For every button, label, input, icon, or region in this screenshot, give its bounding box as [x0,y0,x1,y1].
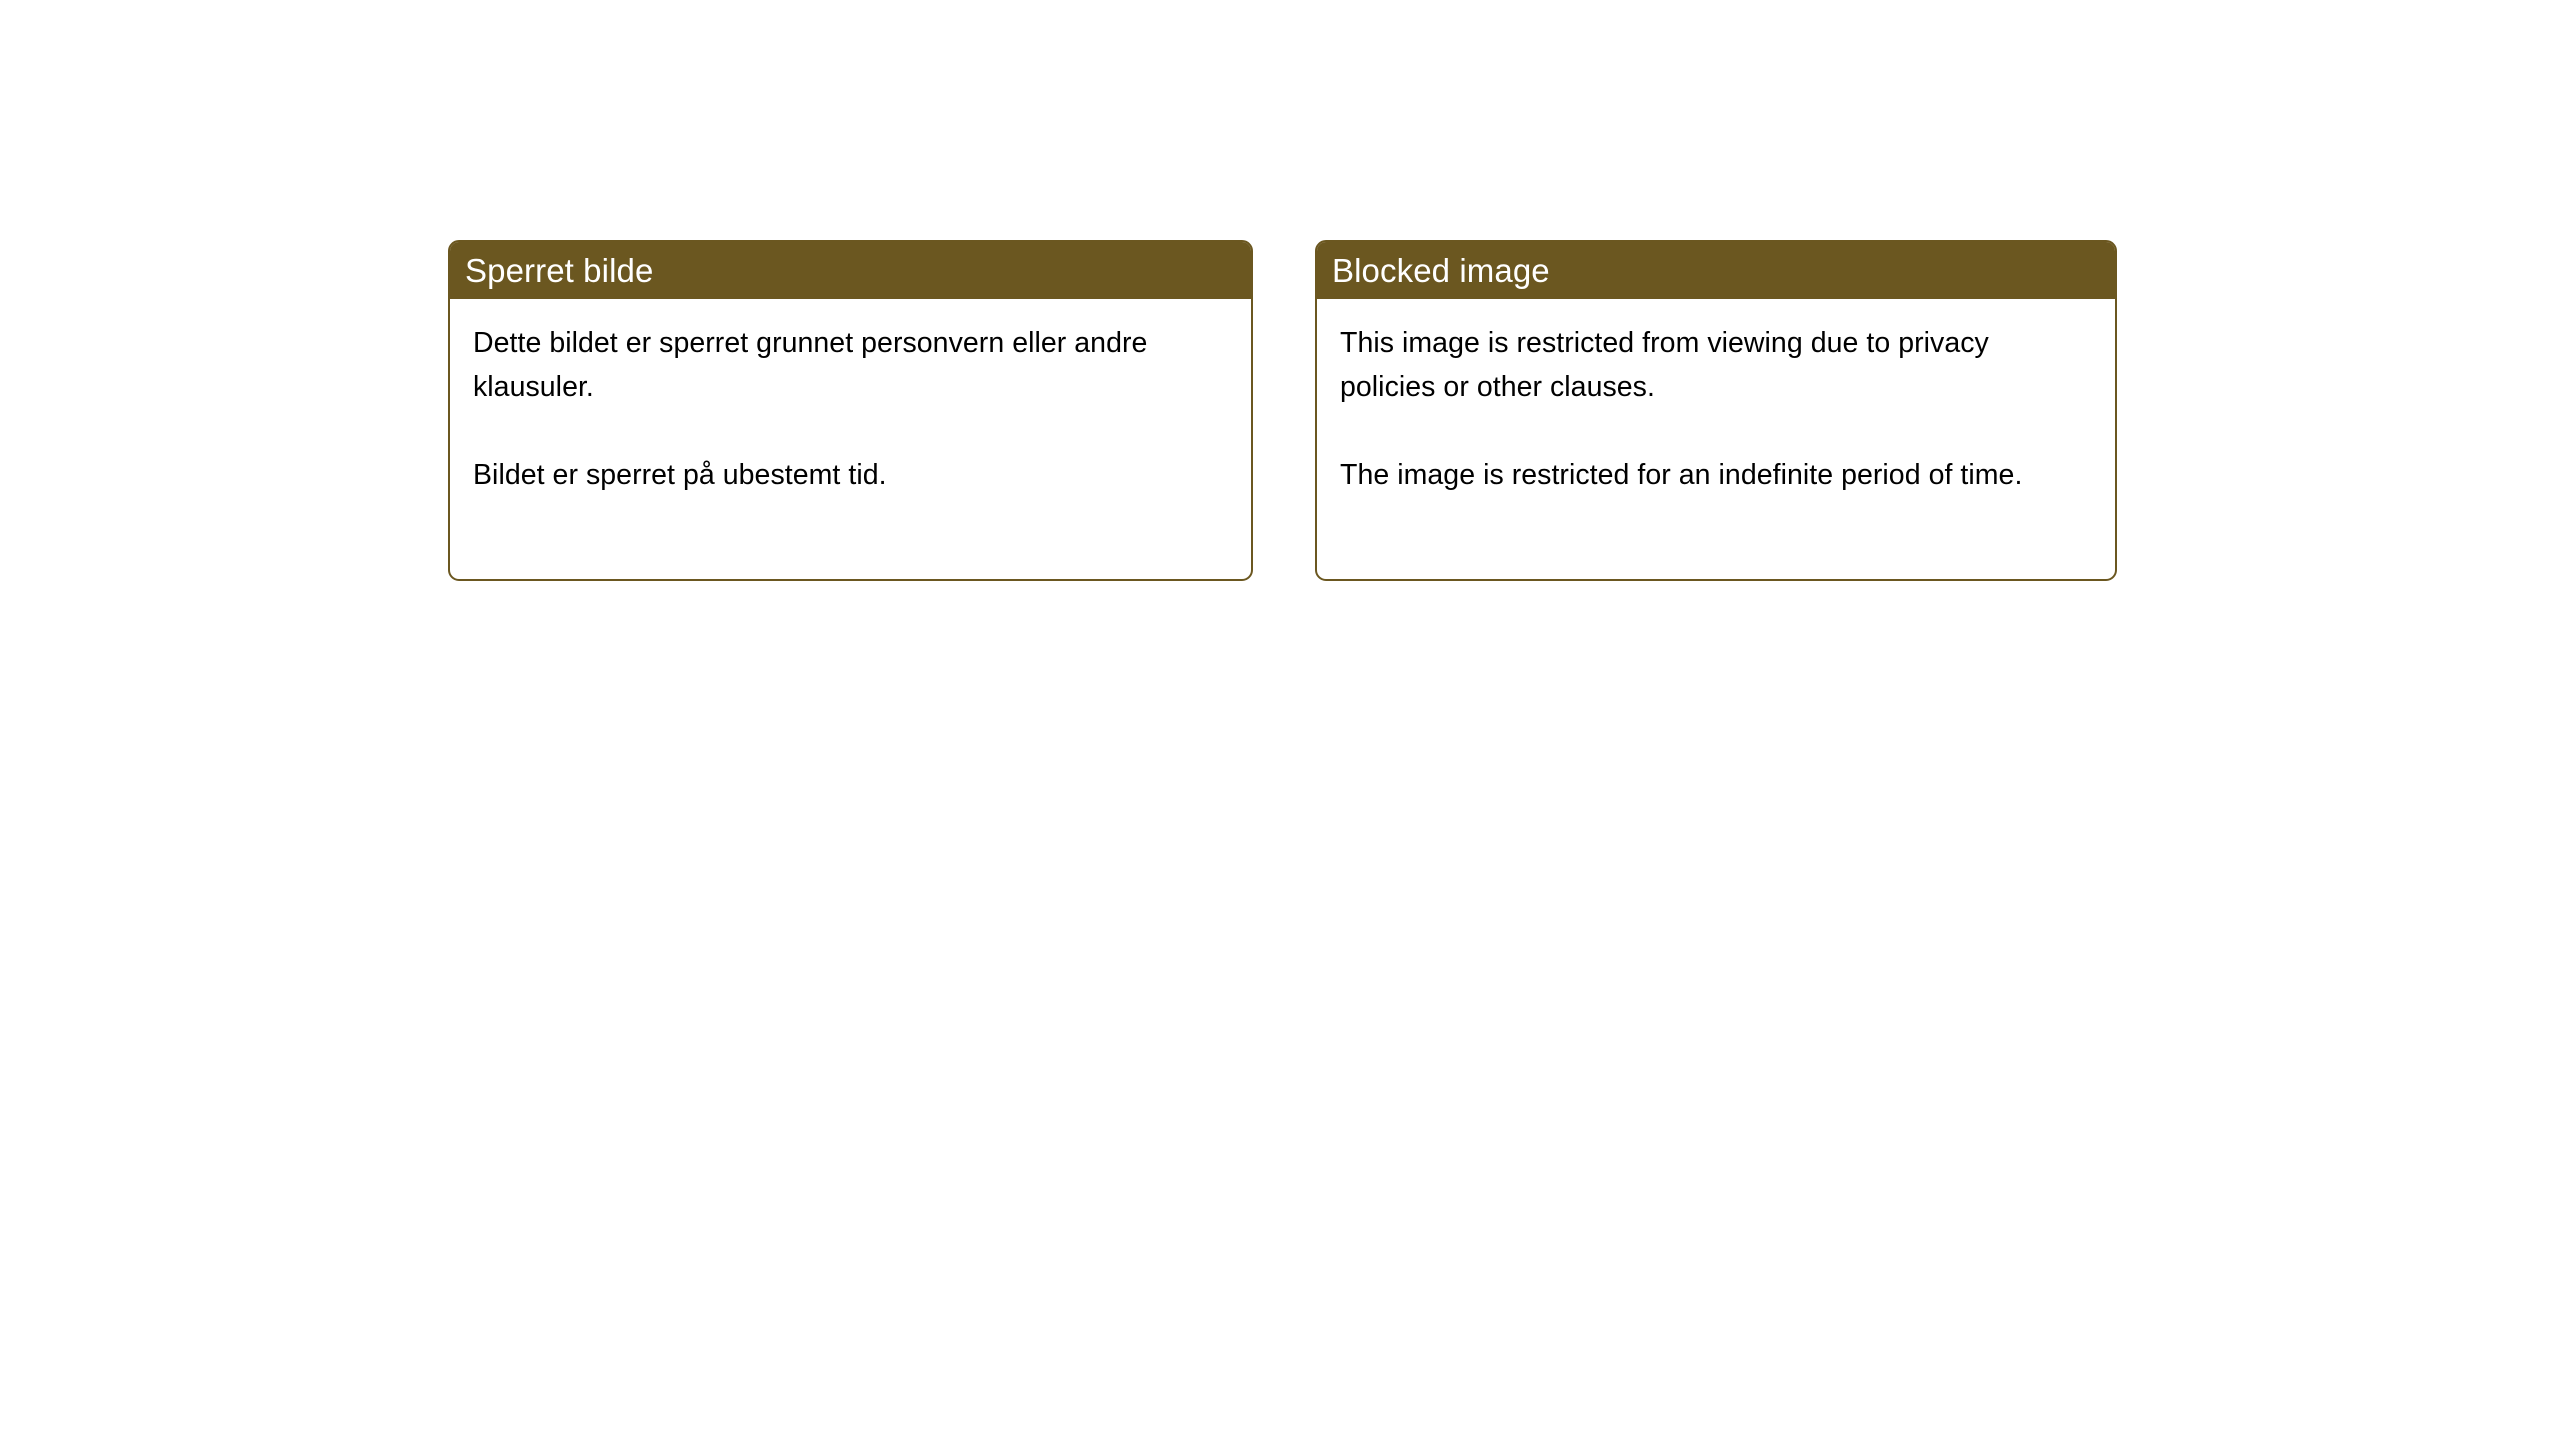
card-paragraph-secondary-english: The image is restricted for an indefinit… [1340,453,2091,497]
blocked-image-notice-card-english: Blocked image This image is restricted f… [1315,240,2117,581]
card-header-norwegian: Sperret bilde [449,241,1252,299]
card-paragraph-primary-english: This image is restricted from viewing du… [1340,321,2091,409]
blocked-image-notice-card-norwegian: Sperret bilde Dette bildet er sperret gr… [448,240,1253,581]
card-body-english: This image is restricted from viewing du… [1317,299,2115,497]
card-title-norwegian: Sperret bilde [465,254,653,287]
card-body-norwegian: Dette bildet er sperret grunnet personve… [450,299,1251,497]
card-title-english: Blocked image [1332,254,1550,287]
card-paragraph-secondary-norwegian: Bildet er sperret på ubestemt tid. [473,453,1227,497]
page-canvas: Sperret bilde Dette bildet er sperret gr… [0,0,2560,1440]
card-header-english: Blocked image [1316,241,2116,299]
card-paragraph-primary-norwegian: Dette bildet er sperret grunnet personve… [473,321,1227,409]
